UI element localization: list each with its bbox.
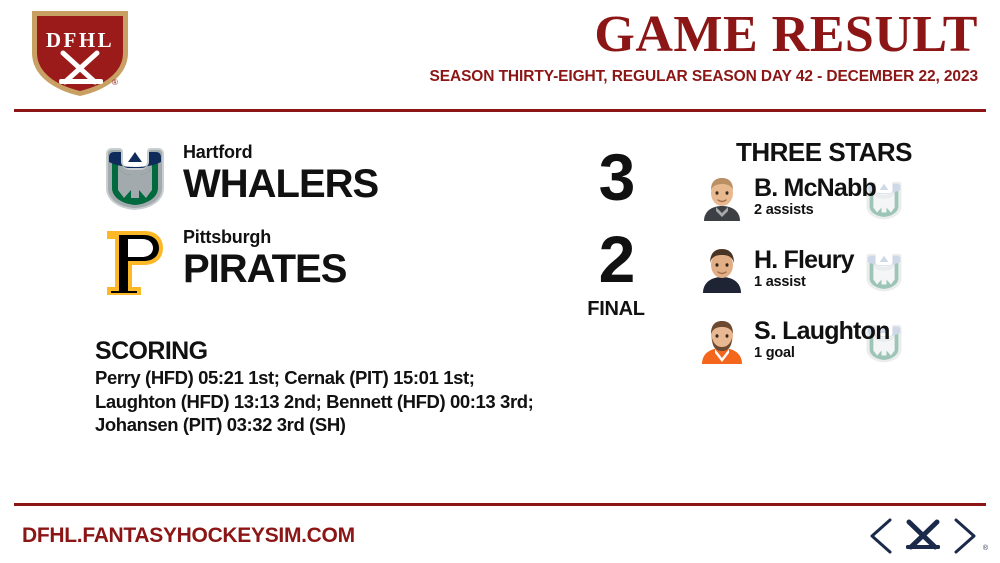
scoring-line: Laughton (HFD) 13:13 2nd; Bennett (HFD) … — [95, 390, 595, 414]
svg-text:DFHL: DFHL — [46, 28, 114, 52]
three-stars-item: B. McNabb 2 assists — [698, 173, 1000, 235]
three-stars-title: THREE STARS — [690, 138, 958, 166]
score-block: 3 2 FINAL — [556, 140, 676, 320]
three-stars-item-info: B. McNabb 2 assists — [754, 174, 876, 219]
scoring-title: SCORING — [95, 337, 595, 366]
team-home-text: Pittsburgh PIRATES — [183, 227, 346, 291]
team-away-city: Hartford — [183, 142, 378, 162]
header-divider — [14, 109, 986, 112]
team-row-home: Pittsburgh PIRATES — [95, 223, 515, 307]
page-title: GAME RESULT — [594, 8, 978, 62]
score-away: 3 — [556, 140, 676, 214]
team-home-name: PIRATES — [183, 248, 346, 291]
scoring-block: SCORING Perry (HFD) 05:21 1st; Cernak (P… — [95, 337, 595, 437]
player-headshot-fleury — [698, 245, 746, 293]
game-result-graphic: DFHL ® GAME RESULT SEASON THIRTY-EIGHT, … — [0, 0, 1000, 563]
footer-divider — [14, 503, 986, 506]
three-stars-item-stat: 1 goal — [754, 345, 890, 362]
team-away-name: WHALERS — [183, 163, 378, 206]
registered-mark-icon: ® — [983, 545, 988, 552]
footer-url[interactable]: DFHL.FANTASYHOCKEYSIM.COM — [22, 524, 355, 548]
three-stars-item-stat: 2 assists — [754, 202, 876, 219]
three-stars-item: S. Laughton 1 goal — [698, 316, 1000, 378]
three-stars-block: THREE STARS — [690, 138, 1000, 166]
registered-mark-icon: ® — [112, 78, 118, 87]
header: DFHL ® GAME RESULT SEASON THIRTY-EIGHT, … — [0, 0, 1000, 100]
team-home-city: Pittsburgh — [183, 227, 346, 247]
team-row-away: Hartford WHALERS — [95, 138, 515, 222]
dfhl-x-mark-icon — [864, 516, 982, 556]
three-stars-item-name: H. Fleury — [754, 246, 854, 274]
three-stars-item-name: S. Laughton — [754, 317, 890, 345]
header-subtitle: SEASON THIRTY-EIGHT, REGULAR SEASON DAY … — [430, 68, 979, 86]
three-stars-item-stat: 1 assist — [754, 274, 854, 291]
scoring-line: Perry (HFD) 05:21 1st; Cernak (PIT) 15:0… — [95, 366, 595, 390]
three-stars-item-info: H. Fleury 1 assist — [754, 246, 854, 291]
whalers-logo-icon — [95, 138, 175, 218]
score-home: 2 — [556, 222, 676, 296]
pirates-logo-icon — [95, 223, 175, 303]
whalers-logo-icon — [858, 247, 910, 297]
three-stars-item-name: B. McNabb — [754, 174, 876, 202]
scoring-line: Johansen (PIT) 03:32 3rd (SH) — [95, 413, 595, 437]
score-status-badge: FINAL — [556, 298, 676, 320]
three-stars-item-info: S. Laughton 1 goal — [754, 317, 890, 362]
player-headshot-laughton — [698, 316, 746, 364]
team-away-text: Hartford WHALERS — [183, 142, 378, 206]
player-headshot-mcnabb — [698, 173, 746, 221]
three-stars-item: H. Fleury 1 assist — [698, 245, 1000, 307]
